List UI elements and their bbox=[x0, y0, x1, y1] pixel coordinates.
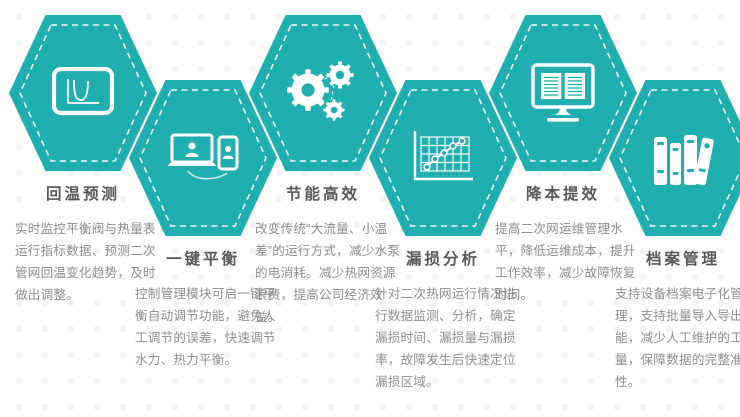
feature-card-danganguanli[interactable]: 档案管理 支持设备档案电子化管理，支持批量导入导出功能，减少人工维护的工作量，保… bbox=[608, 79, 740, 237]
feature-hexagon-grid: 回温预测 实时监控平衡阀与热量表运行指标数据、预测二次管网回温变化趋势，及时做出… bbox=[0, 0, 740, 417]
card-title: 档案管理 bbox=[608, 247, 740, 269]
card-description: 支持设备档案电子化管理，支持批量导入导出功能，减少人工维护的工作量，保障数据的完… bbox=[615, 283, 740, 393]
hexagon-shape bbox=[608, 79, 740, 237]
